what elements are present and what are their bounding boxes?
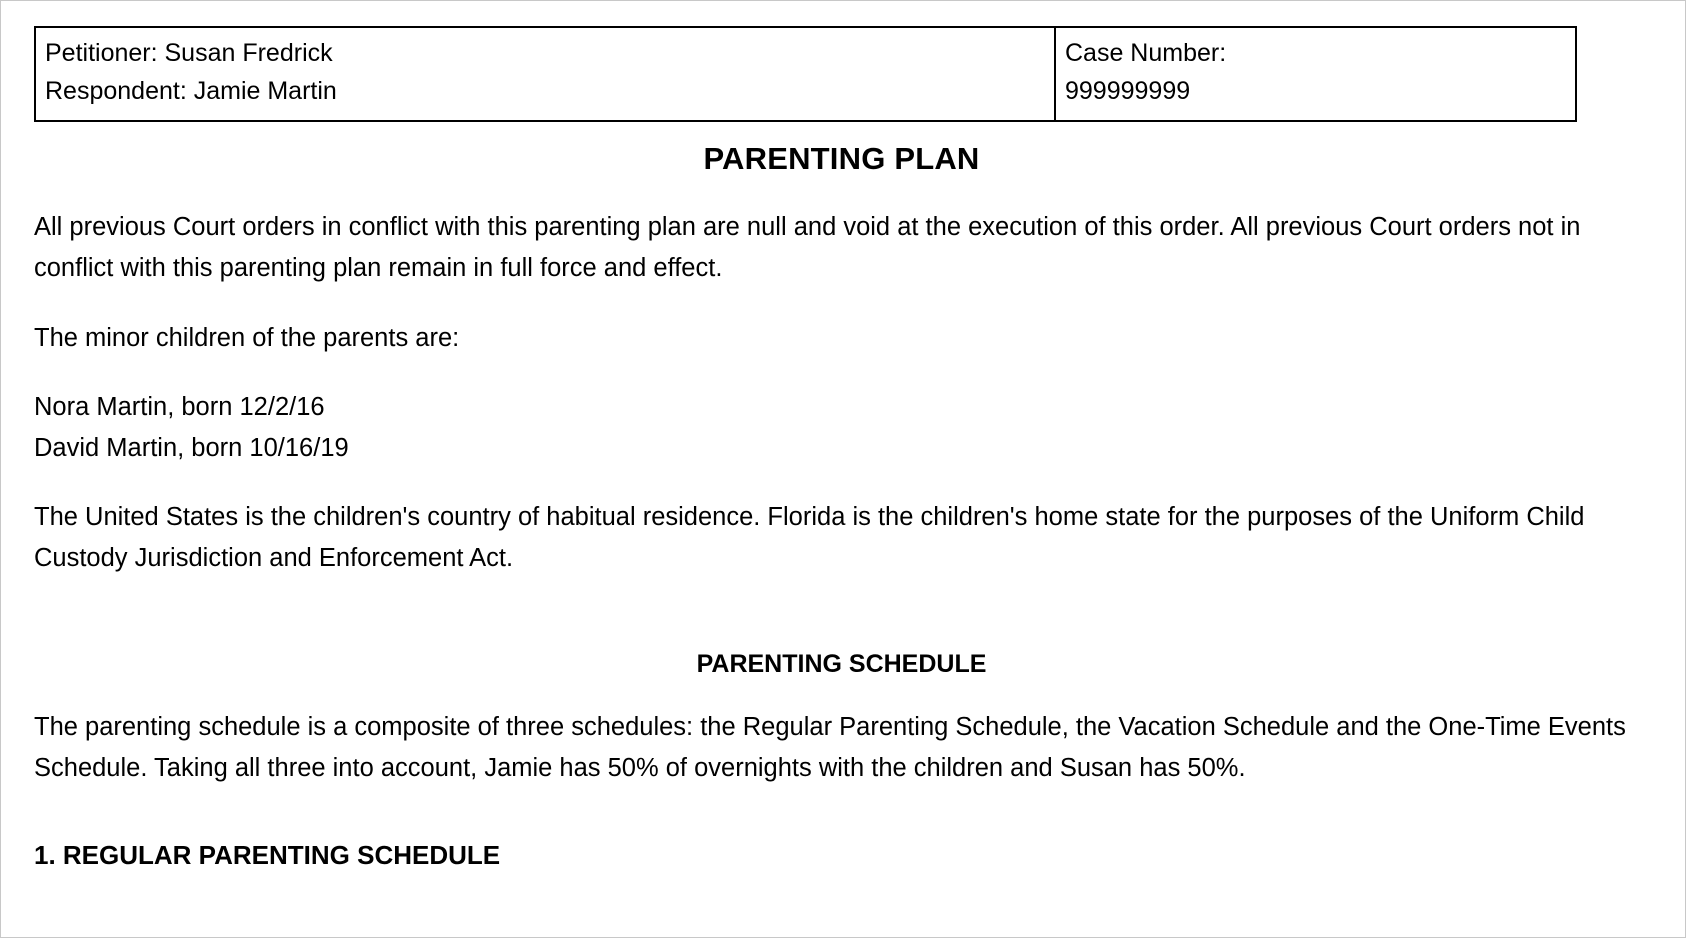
children-list: Nora Martin, born 12/2/16 David Martin, … <box>34 387 1652 469</box>
schedule-paragraph: The parenting schedule is a composite of… <box>34 707 1652 789</box>
case-caption-table: Petitioner: Susan Fredrick Respondent: J… <box>34 26 1577 122</box>
intro-paragraph: All previous Court orders in conflict wi… <box>34 207 1652 289</box>
caption-cell-parties: Petitioner: Susan Fredrick Respondent: J… <box>35 27 1055 121</box>
child-entry: Nora Martin, born 12/2/16 <box>34 387 1652 428</box>
parenting-schedule-heading: PARENTING SCHEDULE <box>34 650 1652 679</box>
caption-cell-case-number: Case Number: 999999999 <box>1055 27 1576 121</box>
caption-row: Petitioner: Susan Fredrick Respondent: J… <box>35 27 1576 121</box>
child-entry: David Martin, born 10/16/19 <box>34 428 1652 469</box>
regular-parenting-schedule-heading: 1. REGULAR PARENTING SCHEDULE <box>34 840 1652 871</box>
case-number-value: 999999999 <box>1065 72 1566 110</box>
document-page: Petitioner: Susan Fredrick Respondent: J… <box>0 0 1686 938</box>
document-title: PARENTING PLAN <box>34 141 1652 177</box>
case-number-label: Case Number: <box>1065 34 1566 72</box>
respondent-line: Respondent: Jamie Martin <box>45 72 1045 110</box>
residence-paragraph: The United States is the children's coun… <box>34 497 1652 579</box>
page-content: Petitioner: Susan Fredrick Respondent: J… <box>34 26 1652 937</box>
petitioner-line: Petitioner: Susan Fredrick <box>45 34 1045 72</box>
minor-children-intro: The minor children of the parents are: <box>34 318 1652 359</box>
